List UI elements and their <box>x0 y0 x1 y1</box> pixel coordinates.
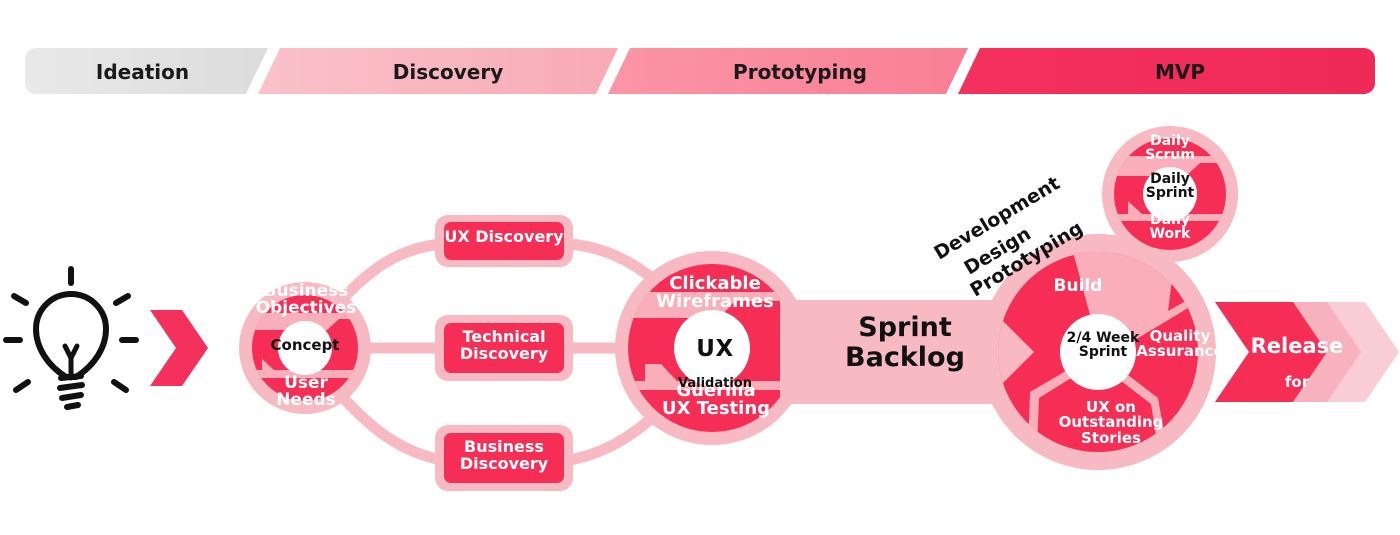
phase-band-mvp[interactable] <box>958 48 1375 94</box>
phase-band-discovery[interactable] <box>258 48 618 94</box>
diagram-graphics <box>0 0 1400 535</box>
prototyping-top-label: Clickable Wireframes <box>640 275 790 312</box>
phase-header-bar <box>25 48 1375 94</box>
sprint-backlog-label: Sprint Backlog <box>815 313 995 373</box>
concept-top-label: Business Objectives <box>245 283 367 318</box>
release-line3: implementation <box>1212 408 1382 425</box>
mvp-bottom-label: UX on Outstanding Stories <box>1040 400 1182 446</box>
concept-center-label: Concept <box>262 338 348 353</box>
diagonal-labels: Development Design Prototyping <box>928 160 1088 260</box>
ux-validation-line1: UX <box>675 338 755 361</box>
mvp-center-label: 2/4 Week Sprint <box>1062 331 1144 360</box>
phase-band-ideation[interactable] <box>25 48 268 94</box>
lightbulb-icon <box>6 269 136 407</box>
daily-top-label: Daily Scrum <box>1128 134 1212 163</box>
daily-bottom-label: Daily Work <box>1128 213 1212 242</box>
diagram-canvas: Ideation Discovery Prototyping MVP Busin… <box>0 0 1400 535</box>
release-line1: Release <box>1212 336 1382 357</box>
phase-band-prototyping[interactable] <box>608 48 968 94</box>
ux-validation-line2: Validation <box>675 377 755 390</box>
release-line2: for <box>1212 374 1382 391</box>
release-label: Release for implementation <box>1212 320 1382 441</box>
ux-validation-label: UX Validation <box>675 322 755 407</box>
concept-bottom-label: User Needs <box>250 375 362 410</box>
daily-center-label: Daily Sprint <box>1134 172 1206 201</box>
discovery-boxes[interactable] <box>435 215 573 491</box>
chevron-right-icon <box>150 310 208 386</box>
mvp-top-label: Build <box>1035 278 1121 295</box>
